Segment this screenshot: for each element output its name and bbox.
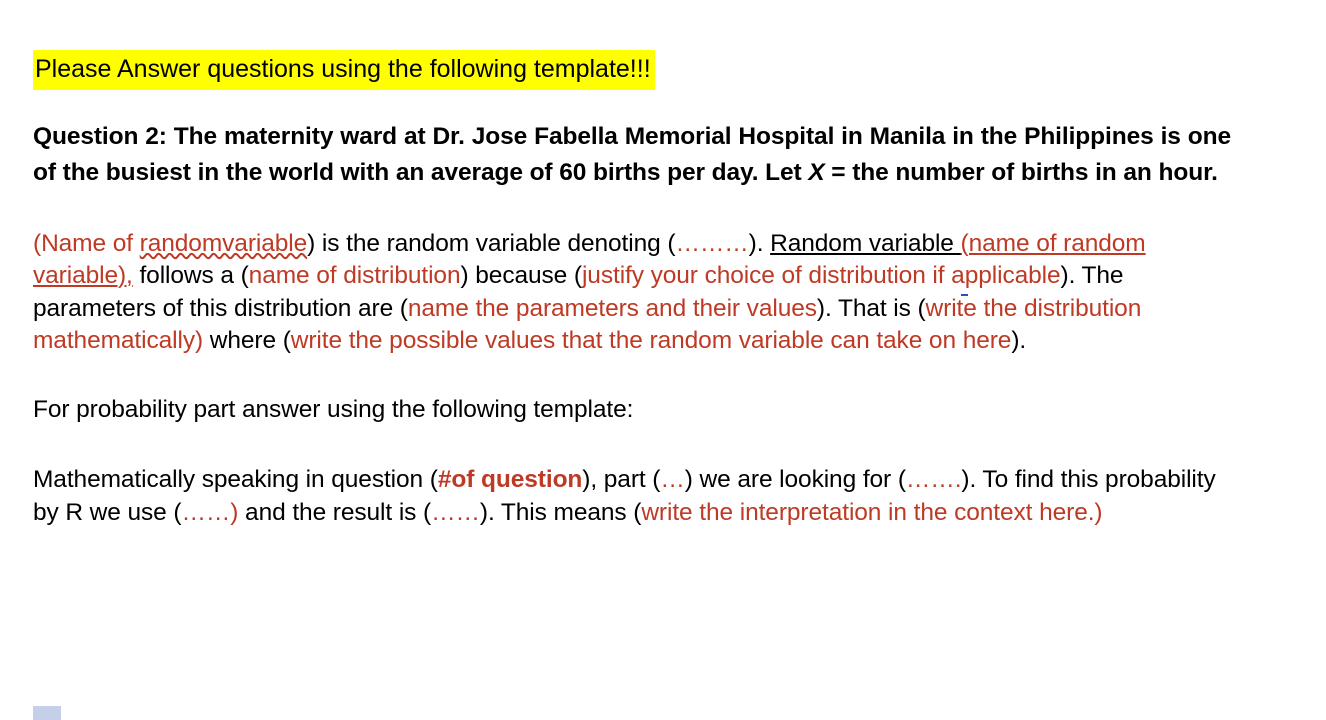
math-part-label: ), part ( (582, 466, 660, 493)
tpl-because: ) because ( (461, 262, 582, 289)
question-label: Question 2: (33, 123, 167, 150)
tpl-dots-1: ……… (675, 230, 748, 257)
tpl-misspelled-randomvariable: randomvariable (140, 230, 307, 257)
math-and-result: and the result is ( (238, 499, 431, 526)
tpl-that-is: ). That is ( (817, 295, 926, 322)
highlighted-heading: Please Answer questions using the follow… (33, 50, 655, 90)
random-variable-symbol: X (808, 159, 824, 186)
tpl-name-parameters: name the parameters and their values (408, 295, 817, 322)
document-page: Please Answer questions using the follow… (0, 0, 1326, 718)
tpl-name-of-prefix: Name of (41, 230, 140, 257)
math-dots-result: …… (431, 499, 480, 526)
question-body-after-variable: = the number of births in an hour. (825, 159, 1218, 186)
tpl-possible-values: write the possible values that the rando… (291, 327, 1012, 354)
template-paragraph: (Name of randomvariable) is the random v… (33, 228, 1223, 358)
math-intro: Mathematically speaking in question ( (33, 466, 438, 493)
tpl-follows-a: follows a ( (133, 262, 249, 289)
math-dots-part: … (660, 466, 684, 493)
question-paragraph: Question 2: The maternity ward at Dr. Jo… (33, 119, 1231, 191)
math-dots-target: ……. (906, 466, 962, 493)
math-looking-for: ) we are looking for ( (685, 466, 906, 493)
math-question-number-placeholder: #of question (438, 466, 582, 493)
math-this-means: ). This means ( (480, 499, 641, 526)
tpl-open-paren: ( (33, 230, 41, 257)
tpl-where: where ( (203, 327, 291, 354)
math-interpretation-placeholder: write the interpretation in the context … (641, 499, 1102, 526)
tpl-random-variable-underlined: Random variable (770, 230, 960, 257)
math-template-paragraph: Mathematically speaking in question (#of… (33, 464, 1223, 529)
tpl-final-paren: ). (1011, 327, 1026, 354)
tpl-denoting-text: is the random variable denoting ( (315, 230, 675, 257)
tpl-name-of-distribution: name of distribution (249, 262, 461, 289)
math-dots-rcode: ……) (181, 499, 238, 526)
document-content: Please Answer questions using the follow… (33, 50, 1233, 554)
heading-row: Please Answer questions using the follow… (33, 50, 1233, 90)
probability-intro-paragraph: For probability part answer using the fo… (33, 394, 1223, 427)
tpl-close-paren: ) (307, 230, 315, 257)
tpl-justify-choice: justify your choice of distribution if a… (582, 262, 1061, 289)
tpl-after-dots-1: ). (749, 230, 770, 257)
